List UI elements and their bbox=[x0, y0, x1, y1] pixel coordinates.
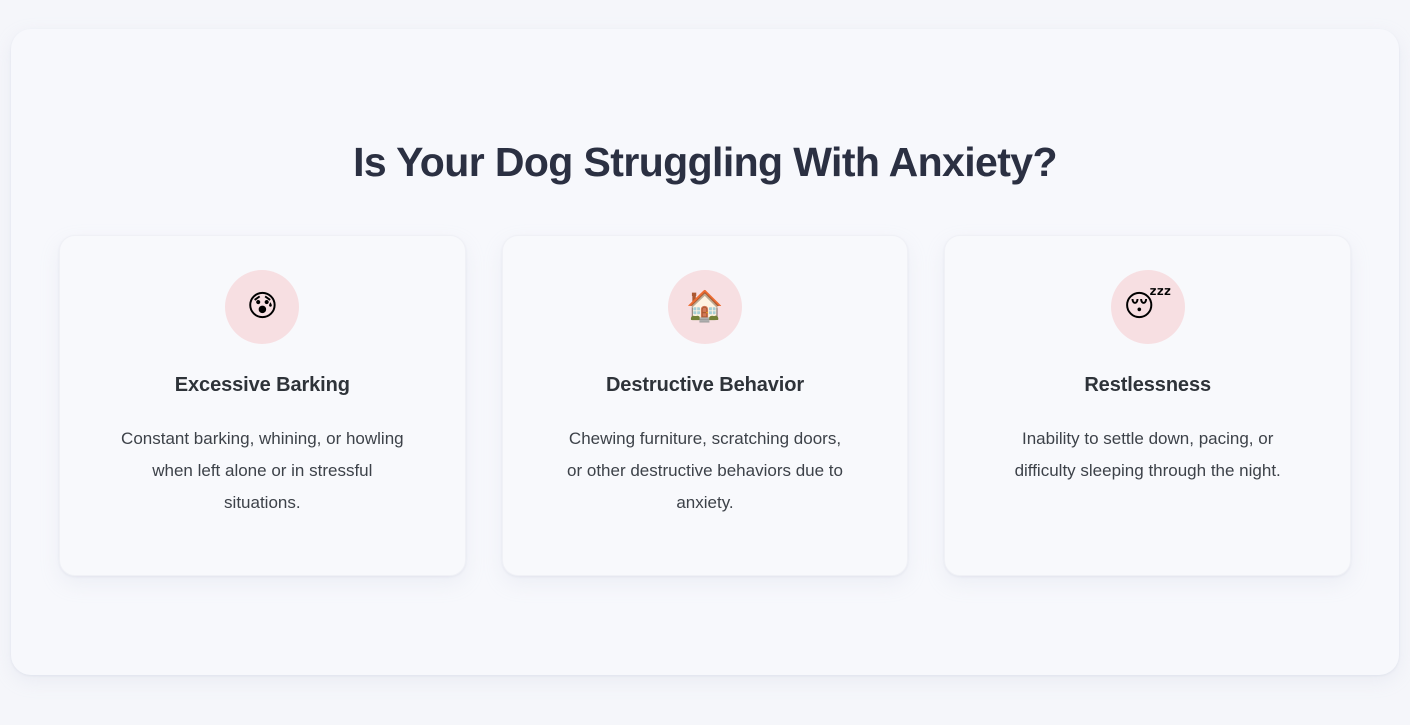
symptom-card-list: 😰 Excessive Barking Constant barking, wh… bbox=[59, 235, 1351, 576]
page-root: Is Your Dog Struggling With Anxiety? 😰 E… bbox=[0, 0, 1410, 725]
symptom-card-title: Destructive Behavior bbox=[606, 373, 804, 398]
symptom-card-description: Chewing furniture, scratching doors, or … bbox=[560, 423, 850, 519]
symptom-card[interactable]: 🏠 Destructive Behavior Chewing furniture… bbox=[502, 235, 909, 576]
anxious-face-with-sweat-icon: 😰 bbox=[225, 270, 299, 344]
symptom-card[interactable]: 😰 Excessive Barking Constant barking, wh… bbox=[59, 235, 466, 576]
symptom-card-title: Restlessness bbox=[1084, 373, 1211, 398]
sleeping-face-icon: 😴 bbox=[1111, 270, 1185, 344]
symptom-card[interactable]: 😴 Restlessness Inability to settle down,… bbox=[944, 235, 1351, 576]
anxiety-symptoms-section: Is Your Dog Struggling With Anxiety? 😰 E… bbox=[11, 29, 1399, 675]
symptom-card-title: Excessive Barking bbox=[175, 373, 350, 398]
symptom-card-description: Constant barking, whining, or howling wh… bbox=[117, 423, 407, 519]
page-title: Is Your Dog Struggling With Anxiety? bbox=[11, 138, 1399, 186]
symptom-card-description: Inability to settle down, pacing, or dif… bbox=[1003, 423, 1293, 487]
house-icon: 🏠 bbox=[668, 270, 742, 344]
